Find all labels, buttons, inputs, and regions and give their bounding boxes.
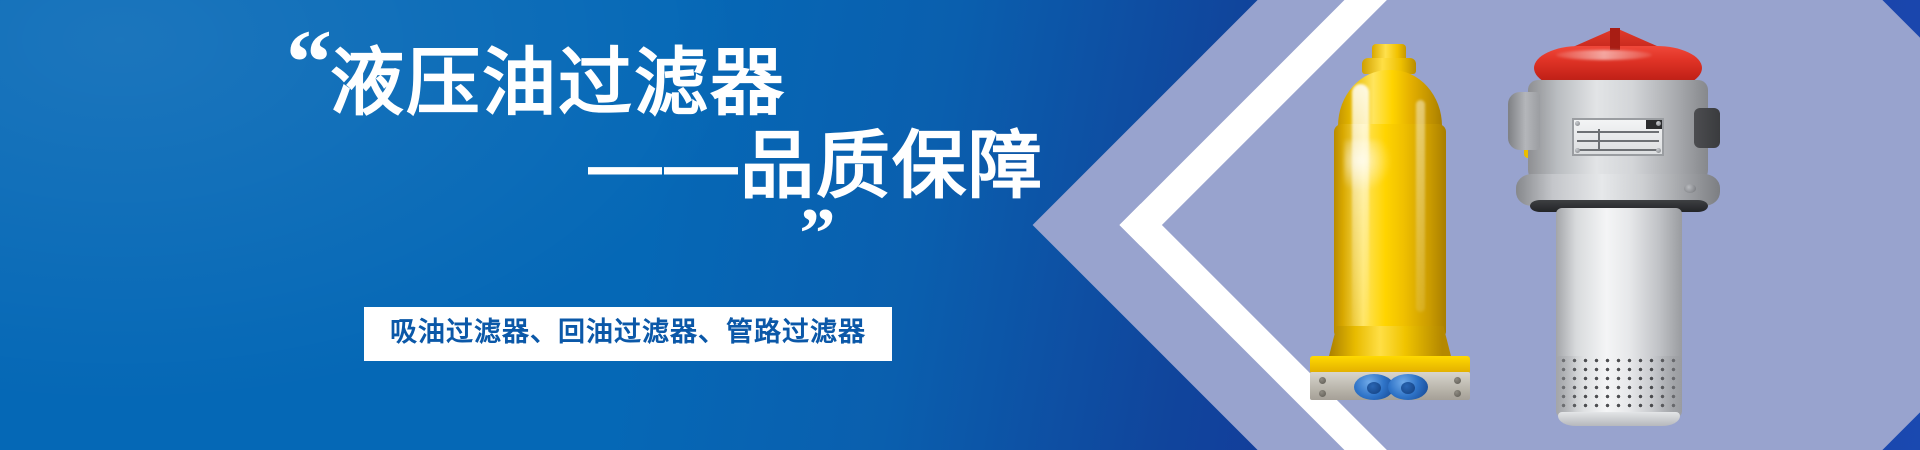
yellow-filter-bolt-4 <box>1454 390 1461 397</box>
page-title: 液压油过滤器 ——品质保障 <box>330 42 1090 208</box>
return-filter-screen-shading <box>1556 356 1682 416</box>
headline-block: “ 液压油过滤器 ——品质保障 „ 吸油过滤器、回油过滤器、管路过滤器 <box>0 0 1120 450</box>
nameplate-row-2 <box>1577 140 1659 142</box>
product-image-yellow-line-filter <box>1288 44 1488 388</box>
subtitle-badge: 吸油过滤器、回油过滤器、管路过滤器 <box>364 307 892 361</box>
return-filter-tube-bottom <box>1558 412 1680 426</box>
yellow-filter-gloss-right <box>1416 100 1425 312</box>
headline-line-2: ——品质保障 <box>330 125 1090 208</box>
yellow-filter-gloss-left <box>1352 84 1369 330</box>
nameplate-row-1 <box>1577 131 1659 133</box>
yellow-filter-bolt-1 <box>1319 377 1326 384</box>
yellow-filter-bolt-3 <box>1454 377 1461 384</box>
nameplate-divider <box>1598 129 1600 150</box>
return-filter-cap-notch <box>1610 28 1620 50</box>
return-filter-flange-hole <box>1684 184 1696 193</box>
nameplate-screw-4 <box>1656 148 1661 153</box>
close-quote-icon: „ <box>800 160 833 232</box>
nameplate-screw-3 <box>1575 148 1580 153</box>
yellow-filter-port-hole-1 <box>1367 382 1381 394</box>
headline-line-1: 液压油过滤器 <box>330 42 1090 125</box>
product-banner: “ 液压油过滤器 ——品质保障 „ 吸油过滤器、回油过滤器、管路过滤器 <box>0 0 1920 450</box>
product-image-return-line-filter <box>1494 28 1752 448</box>
yellow-filter-taper <box>1328 326 1452 360</box>
return-filter-left-boss <box>1508 92 1540 150</box>
open-quote-icon: “ <box>286 16 328 108</box>
yellow-filter-port-hole-2 <box>1401 382 1415 394</box>
subtitle-text: 吸油过滤器、回油过滤器、管路过滤器 <box>390 317 866 347</box>
nameplate-screw-2 <box>1656 121 1661 126</box>
nameplate-row-3 <box>1577 149 1659 151</box>
return-filter-right-plug <box>1694 108 1720 148</box>
yellow-filter-bolt-2 <box>1319 390 1326 397</box>
nameplate-screw-1 <box>1575 121 1580 126</box>
return-filter-cap-highlight <box>1556 50 1652 60</box>
